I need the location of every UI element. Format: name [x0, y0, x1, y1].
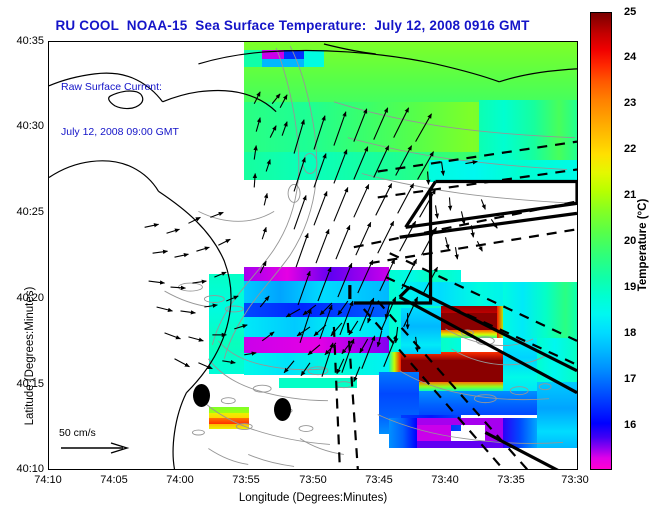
sst-cell	[417, 418, 503, 425]
sst-block	[389, 418, 417, 448]
sst-cell	[279, 378, 357, 388]
sst-cell	[284, 50, 304, 59]
cb-tick-21: 21	[624, 189, 636, 201]
annotation-line-1: Raw Surface Current:	[61, 80, 179, 95]
sst-block	[244, 267, 389, 281]
cb-tick-25: 25	[624, 6, 636, 18]
cb-tick-24: 24	[624, 51, 636, 63]
sst-block	[209, 424, 249, 429]
scale-bar-label: 50 cm/s	[59, 427, 131, 439]
sst-block	[244, 317, 389, 337]
sst-cell	[262, 59, 304, 67]
cb-tick-19: 19	[624, 281, 636, 293]
cb-tick-18: 18	[624, 327, 636, 339]
radar-station-marker-west	[193, 384, 210, 407]
annotation-line-2: July 12, 2008 09:00 GMT	[61, 125, 179, 140]
sst-cell	[441, 313, 503, 330]
sst-block	[209, 274, 244, 374]
sst-block	[537, 338, 577, 382]
cb-tick-16: 16	[624, 419, 636, 431]
sst-cell	[304, 50, 324, 67]
sst-block	[537, 382, 577, 448]
sst-cell	[244, 50, 262, 67]
sst-block	[244, 337, 389, 353]
sst-cell	[417, 425, 451, 441]
sst-block	[429, 160, 577, 182]
velocity-scale-bar: 50 cm/s	[59, 427, 131, 455]
sst-block	[401, 308, 441, 354]
scale-bar-arrow-icon	[59, 441, 131, 455]
sst-cell	[262, 50, 284, 59]
sst-block	[441, 330, 503, 338]
cb-tick-17: 17	[624, 373, 636, 385]
cb-tick-22: 22	[624, 143, 636, 155]
sst-map-figure: RU COOL NOAA-15 Sea Surface Temperature:…	[0, 0, 651, 518]
cb-tick-20: 20	[624, 235, 636, 247]
cb-tick-23: 23	[624, 97, 636, 109]
sst-block	[244, 281, 389, 303]
sst-block	[244, 353, 389, 375]
map-plot-area[interactable]: Raw Surface Current: July 12, 2008 09:00…	[48, 41, 578, 470]
sst-cell	[485, 425, 503, 441]
radar-station-marker-east	[274, 398, 291, 421]
current-annotation: Raw Surface Current: July 12, 2008 09:00…	[61, 50, 179, 170]
sst-block	[244, 303, 389, 317]
sst-cell	[417, 441, 503, 448]
